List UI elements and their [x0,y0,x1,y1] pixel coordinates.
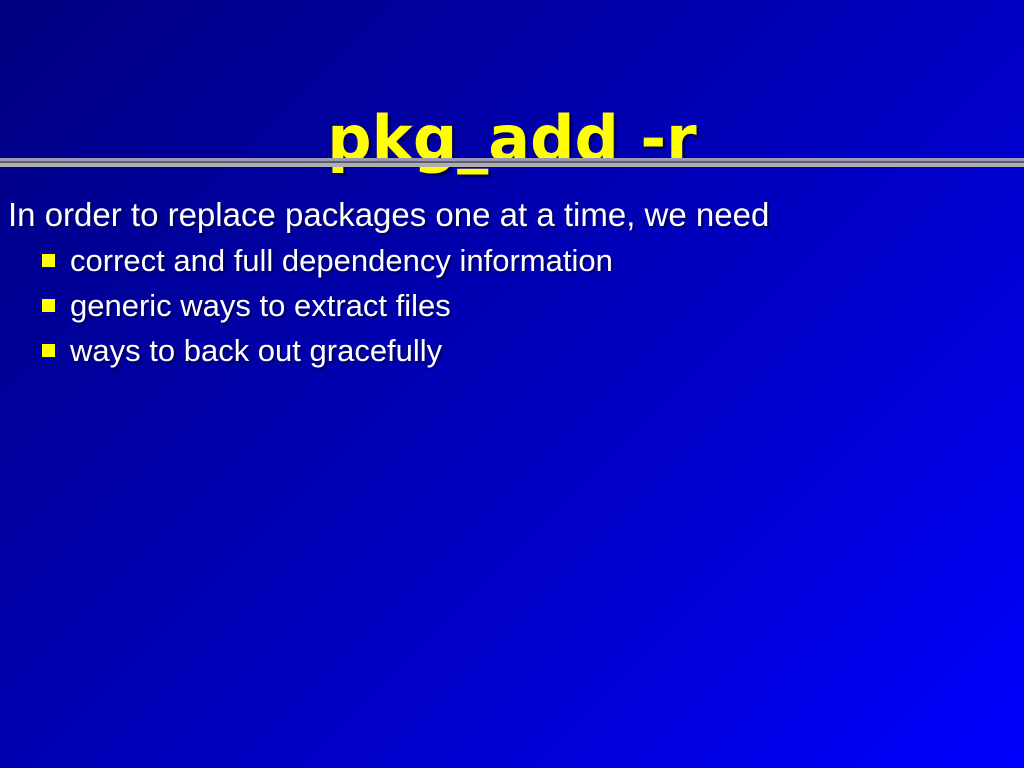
slide-body: In order to replace packages one at a ti… [0,193,1024,373]
title-divider-rule [0,158,1024,167]
square-bullet-icon [42,299,55,312]
intro-text: In order to replace packages one at a ti… [0,193,1024,237]
square-bullet-icon [42,344,55,357]
list-item-label: ways to back out gracefully [70,333,442,368]
list-item-label: generic ways to extract files [70,288,451,323]
list-item-label: correct and full dependency information [70,243,613,278]
list-item: generic ways to extract files [0,283,1024,328]
divider-face-line [0,163,1024,167]
presentation-slide: pkg_add -r In order to replace packages … [0,0,1024,768]
bullet-list: correct and full dependency information … [0,237,1024,373]
list-item: ways to back out gracefully [0,328,1024,373]
square-bullet-icon [42,254,55,267]
list-item: correct and full dependency information [0,238,1024,283]
